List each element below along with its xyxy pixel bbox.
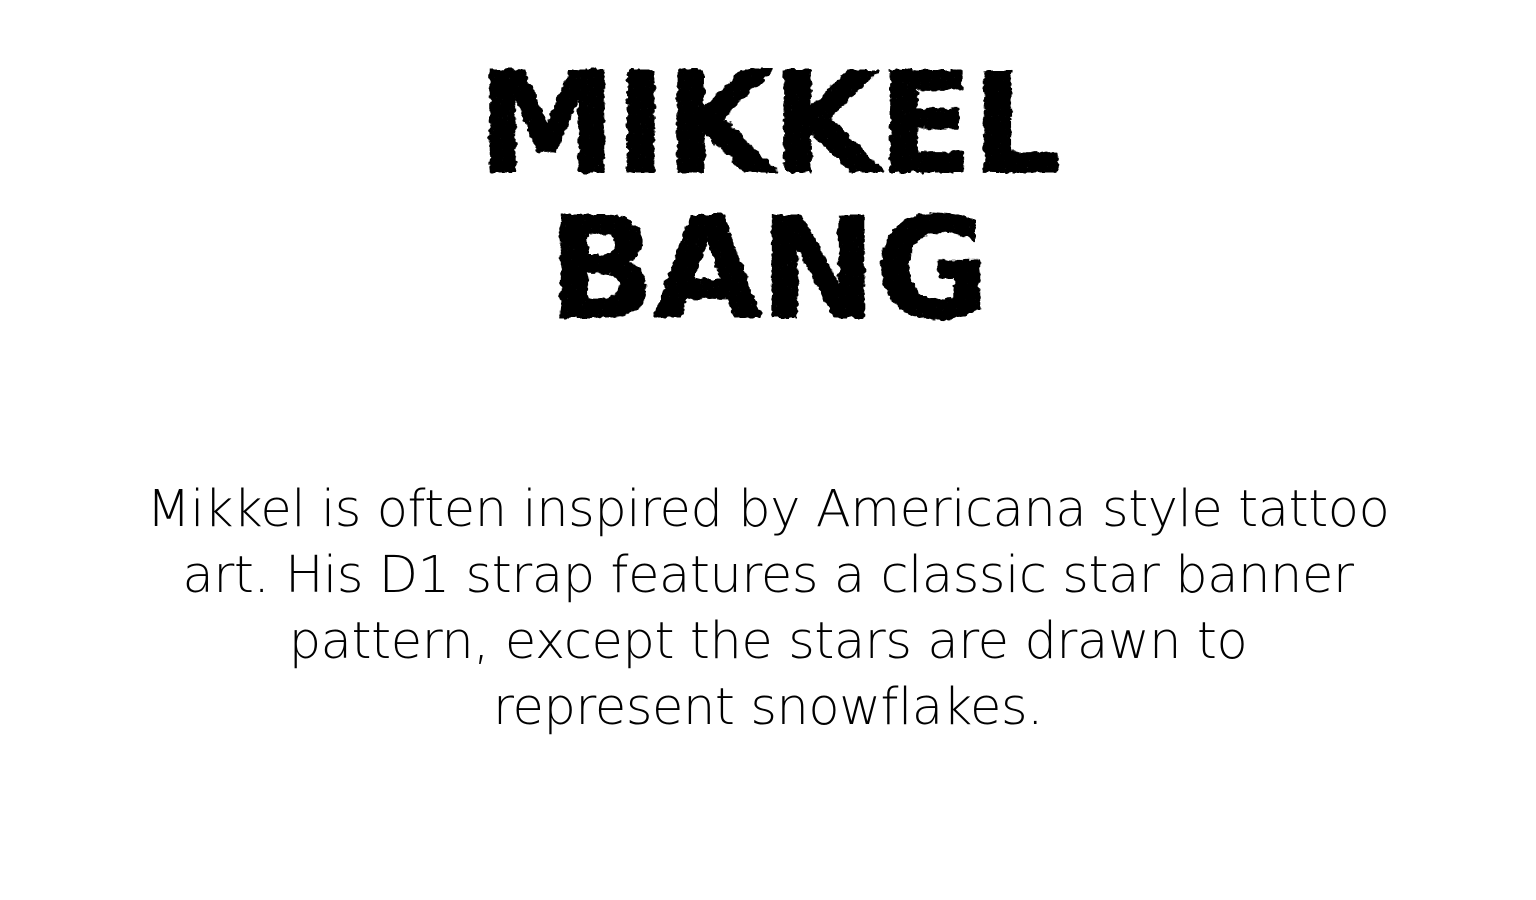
heading-line-2: BANG [548,188,987,342]
heading-artwork: MIKKEL BANG [0,42,1536,342]
bio-line-2: art. His D1 strap features a classic sta… [68,543,1468,609]
athlete-bio-card: MIKKEL BANG Mikkel is often inspired by … [0,0,1536,900]
bio-line-3: pattern, except the stars are drawn to [68,609,1468,675]
athlete-name-heading: MIKKEL BANG [0,42,1536,342]
heading-line-1: MIKKEL [477,43,1058,206]
athlete-bio-paragraph: Mikkel is often inspired by Americana st… [68,477,1468,741]
bio-line-4: represent snowflakes. [68,675,1468,741]
bio-line-1: Mikkel is often inspired by Americana st… [68,477,1468,543]
